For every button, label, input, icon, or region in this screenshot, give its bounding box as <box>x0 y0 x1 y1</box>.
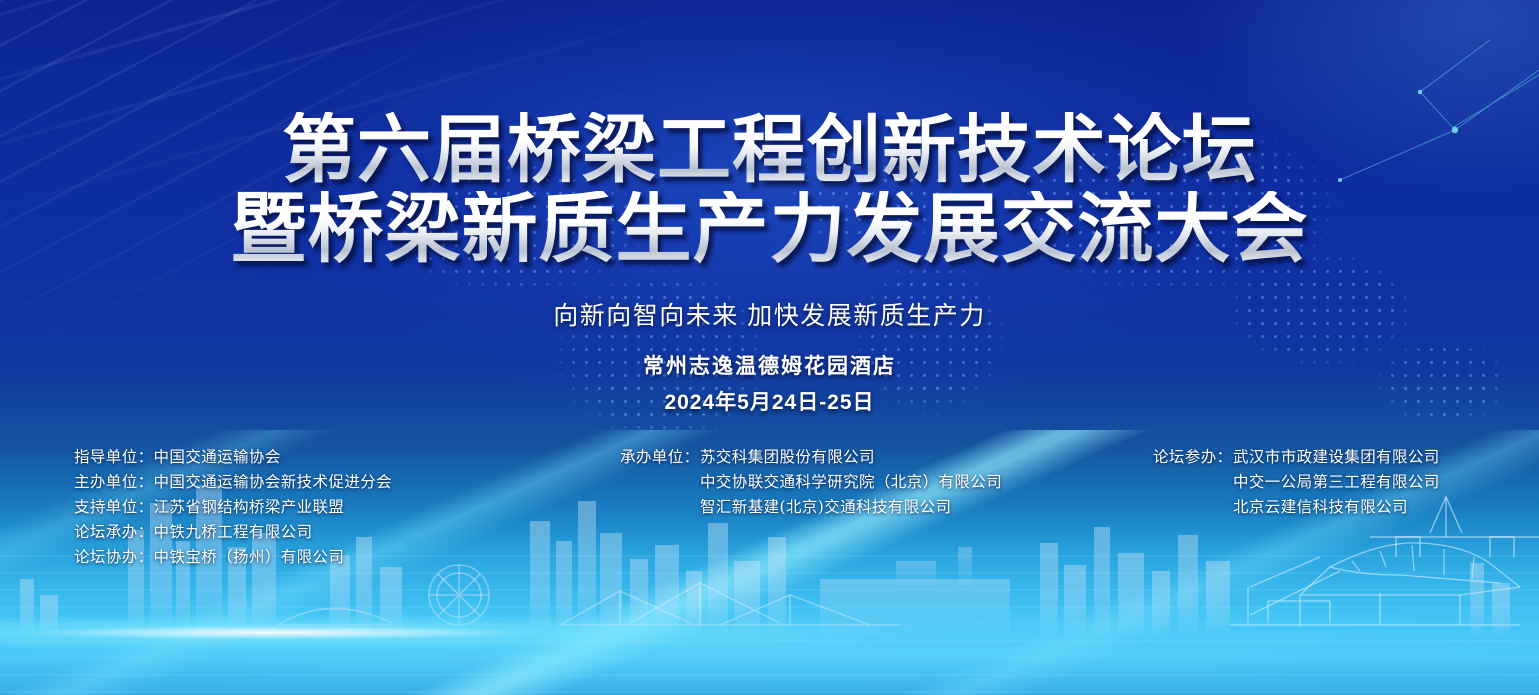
page-title: 第六届桥梁工程创新技术论坛 暨桥梁新质生产力发展交流大会 <box>0 112 1539 269</box>
sponsor-row: 论坛参办： 北京云建信科技有限公司 <box>1153 495 1440 520</box>
sponsor-label: 论坛参办： <box>1153 445 1233 470</box>
sponsor-label: 论坛协办： <box>74 545 154 570</box>
sponsor-value: 北京云建信科技有限公司 <box>1233 495 1408 520</box>
sponsor-column-left: 指导单位： 中国交通运输协会 主办单位： 中国交通运输协会新技术促进分会 支持单… <box>74 445 392 571</box>
sponsor-value: 中交协联交通科学研究院（北京）有限公司 <box>700 470 1002 495</box>
sponsor-value: 江苏省钢结构桥梁产业联盟 <box>154 495 345 520</box>
sponsor-row: 支持单位： 江苏省钢结构桥梁产业联盟 <box>74 495 392 520</box>
title-line-1: 第六届桥梁工程创新技术论坛 <box>0 112 1539 187</box>
sponsor-value: 中铁宝桥（扬州）有限公司 <box>154 545 345 570</box>
sponsor-value: 中铁九桥工程有限公司 <box>154 520 313 545</box>
subtitle: 向新向智向未来 加快发展新质生产力 <box>0 296 1539 332</box>
event-date: 2024年5月24日-25日 <box>0 386 1539 416</box>
venue-block: 常州志逸温德姆花园酒店 2024年5月24日-25日 <box>0 350 1539 416</box>
sponsor-row: 论坛参办： 武汉市市政建设集团有限公司 <box>1153 445 1440 470</box>
sponsor-row: 论坛协办： 中铁宝桥（扬州）有限公司 <box>74 545 392 570</box>
sponsor-label: 支持单位： <box>74 495 154 520</box>
sponsor-row: 论坛承办： 中铁九桥工程有限公司 <box>74 520 392 545</box>
sponsor-label: 指导单位： <box>74 445 154 470</box>
sponsor-value: 中国交通运输协会 <box>154 445 281 470</box>
title-line-2: 暨桥梁新质生产力发展交流大会 <box>0 191 1539 269</box>
sponsor-row: 承办单位： 中交协联交通科学研究院（北京）有限公司 <box>620 470 1002 495</box>
sponsor-value: 中交一公局第三工程有限公司 <box>1233 470 1440 495</box>
sponsor-section: 指导单位： 中国交通运输协会 主办单位： 中国交通运输协会新技术促进分会 支持单… <box>0 440 1539 570</box>
sponsor-value: 智汇新基建(北京)交通科技有限公司 <box>700 495 951 520</box>
sponsor-row: 主办单位： 中国交通运输协会新技术促进分会 <box>74 470 392 495</box>
sponsor-row: 承办单位： 智汇新基建(北京)交通科技有限公司 <box>620 495 1002 520</box>
sponsor-label: 主办单位： <box>74 470 154 495</box>
sponsor-value: 苏交科集团股份有限公司 <box>700 445 875 470</box>
sponsor-label: 论坛承办： <box>74 520 154 545</box>
sponsor-row: 论坛参办： 中交一公局第三工程有限公司 <box>1153 470 1440 495</box>
sponsor-label: 承办单位： <box>620 445 700 470</box>
sponsor-value: 中国交通运输协会新技术促进分会 <box>154 470 393 495</box>
sponsor-row: 承办单位： 苏交科集团股份有限公司 <box>620 445 1002 470</box>
sponsor-value: 武汉市市政建设集团有限公司 <box>1233 445 1440 470</box>
conference-banner: 第六届桥梁工程创新技术论坛 暨桥梁新质生产力发展交流大会 向新向智向未来 加快发… <box>0 0 1539 695</box>
sponsor-row: 指导单位： 中国交通运输协会 <box>74 445 392 470</box>
ferris-wheel-icon <box>429 565 489 625</box>
venue-name: 常州志逸温德姆花园酒店 <box>0 350 1539 380</box>
sponsor-column-right: 论坛参办： 武汉市市政建设集团有限公司 论坛参办： 中交一公局第三工程有限公司 … <box>1153 445 1440 520</box>
sponsor-column-center: 承办单位： 苏交科集团股份有限公司 承办单位： 中交协联交通科学研究院（北京）有… <box>620 445 1002 520</box>
